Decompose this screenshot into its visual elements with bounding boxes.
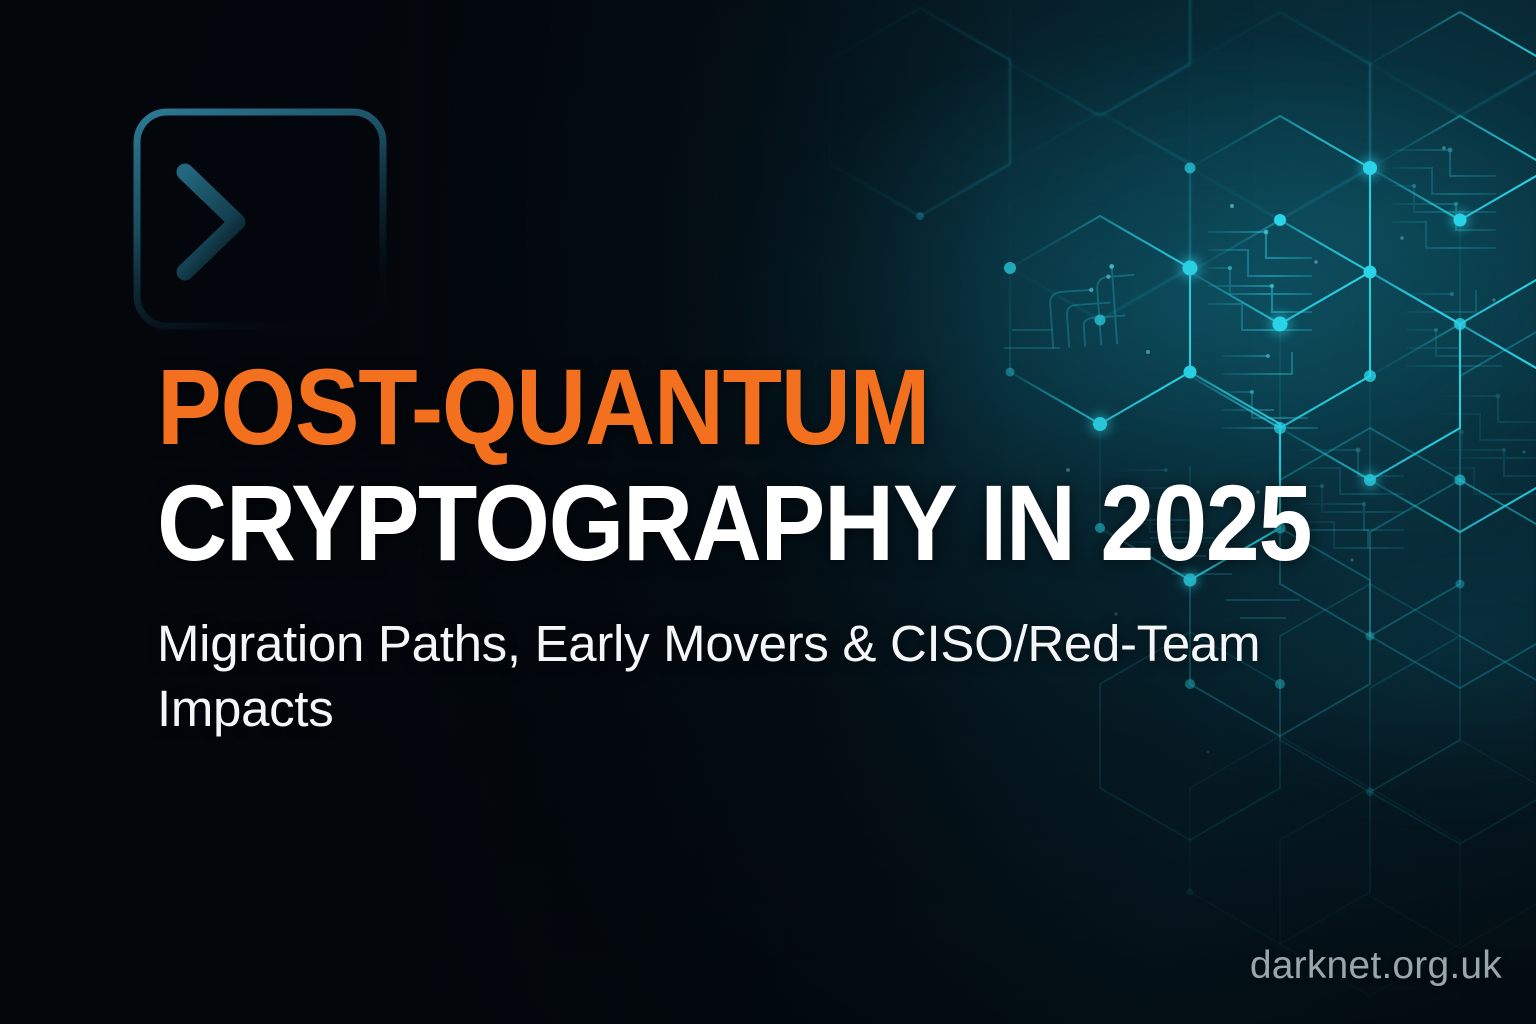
site-watermark: darknet.org.uk [1250,944,1502,988]
headline-subtitle: Migration Paths, Early Movers & CISO/Red… [157,612,1327,741]
terminal-prompt-icon [131,106,389,332]
headline-kicker: POST-QUANTUM [157,352,1264,462]
article-hero-banner: POST-QUANTUM CRYPTOGRAPHY IN 2025 Migrat… [0,0,1536,1024]
headline-main: CRYPTOGRAPHY IN 2025 [157,468,1264,578]
headline-block: POST-QUANTUM CRYPTOGRAPHY IN 2025 Migrat… [157,352,1387,741]
